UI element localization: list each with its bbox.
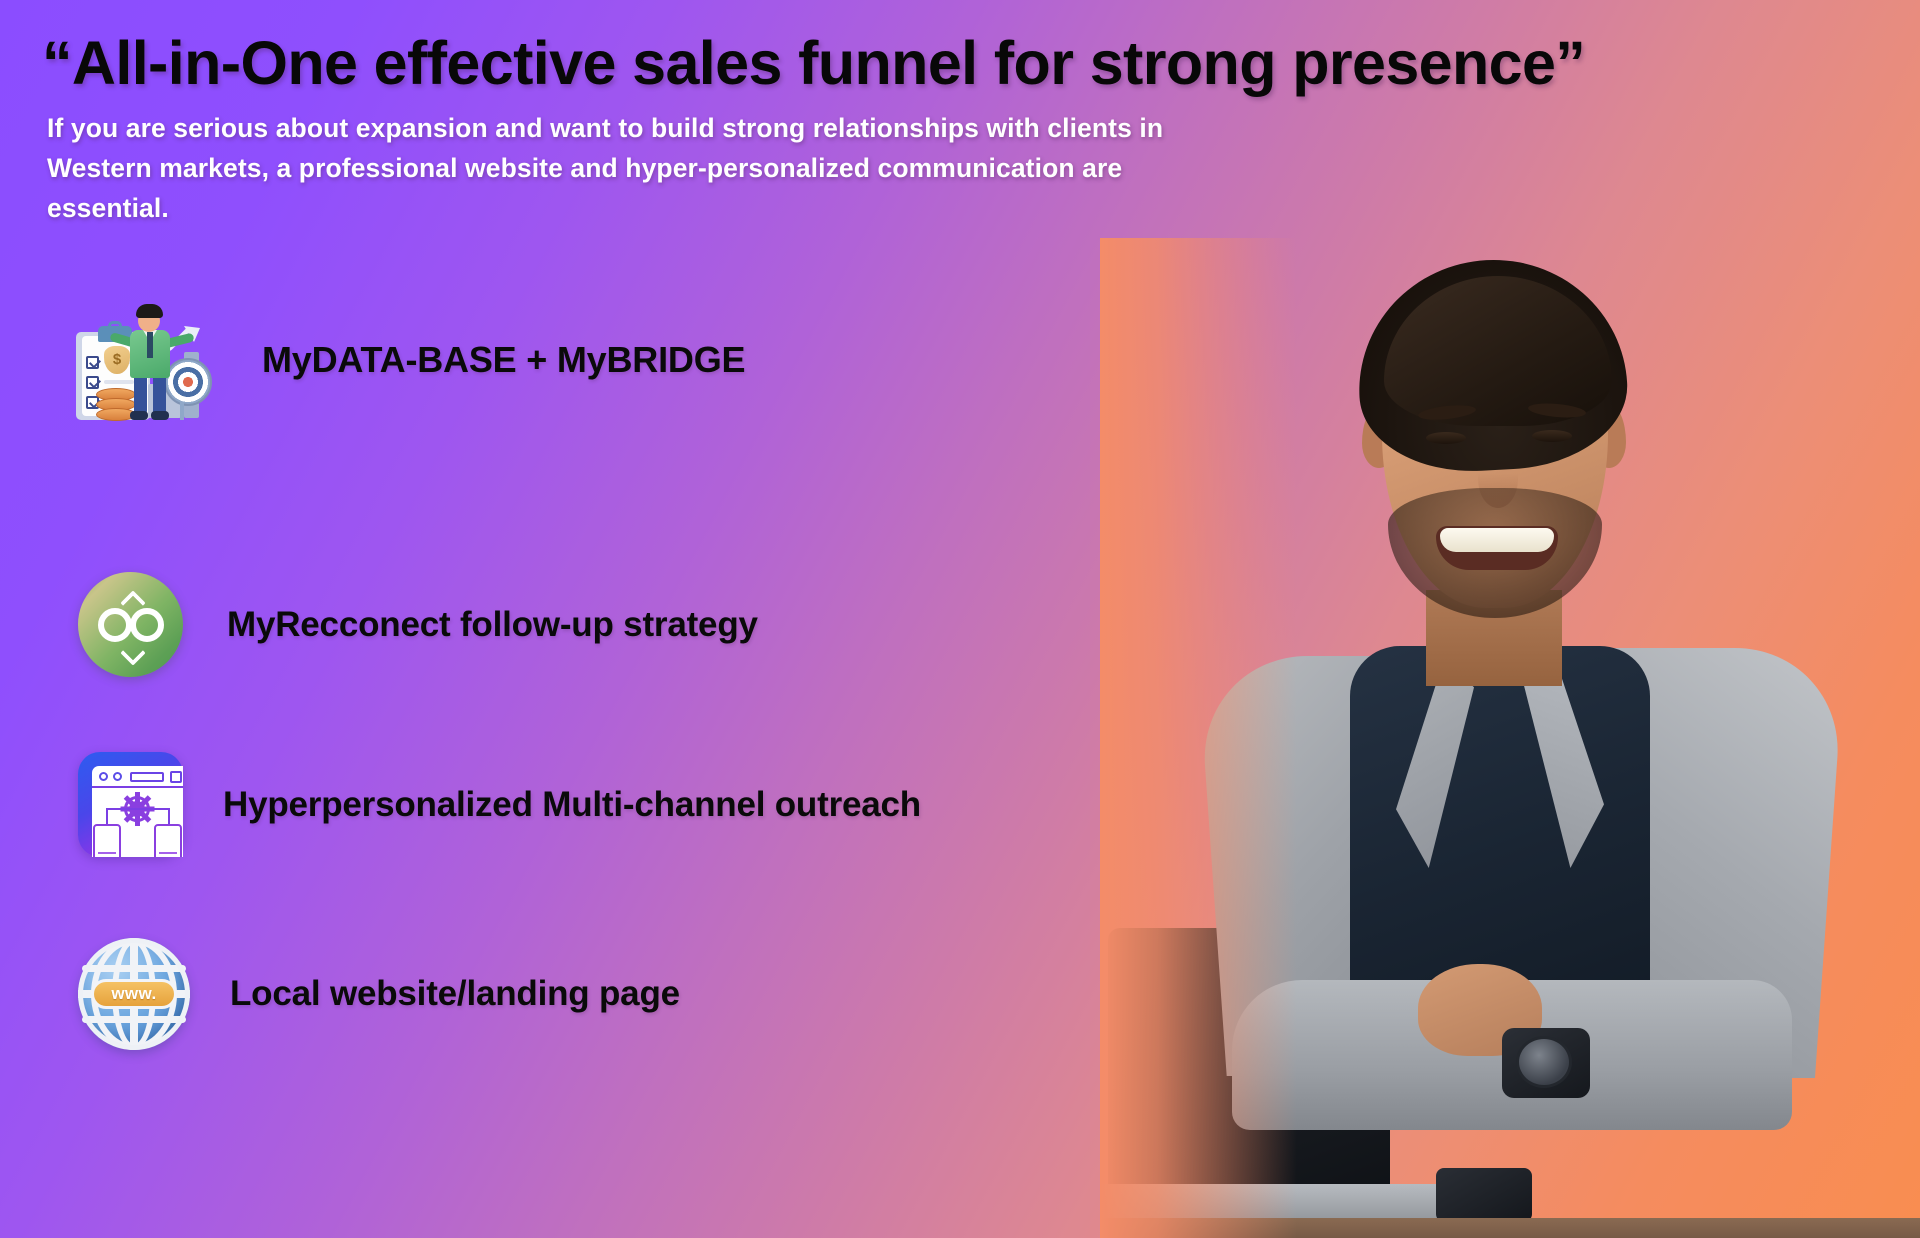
face: [1382, 318, 1608, 608]
feature-row-mydatabase: MyDATA-BASE + MyBRIDGE: [52, 296, 745, 424]
nose: [1478, 450, 1518, 508]
laptop-keyboard: [1100, 1184, 1456, 1238]
photo-person: [1100, 238, 1920, 1238]
page-title: “All-in-One effective sales funnel for s…: [42, 28, 1585, 98]
browser-gear-devices-icon: [78, 752, 183, 857]
shirt: [1350, 646, 1650, 1006]
chevron-down-icon: [121, 644, 141, 655]
watch-face: [1516, 1036, 1572, 1088]
feature-row-multichannel: Hyperpersonalized Multi-channel outreach: [78, 752, 921, 857]
business-growth-illustration-icon: [52, 296, 212, 424]
infinity-icon: [98, 608, 164, 642]
lapel-left: [1396, 658, 1474, 868]
infinity-loop-circle-icon: [78, 572, 183, 677]
jacket-right: [1515, 648, 1845, 1078]
jacket-left: [1197, 656, 1494, 1076]
forearm: [1232, 980, 1792, 1130]
wristwatch: [1502, 1028, 1590, 1098]
laptop-screen: [1108, 928, 1390, 1228]
feature-label: Local website/landing page: [230, 974, 680, 1014]
teeth: [1440, 528, 1554, 552]
feature-label: MyRecconect follow-up strategy: [227, 605, 758, 645]
mouth: [1436, 526, 1558, 570]
lapel-right: [1524, 656, 1604, 868]
address-bar-icon: [130, 772, 164, 782]
www-badge: www.: [91, 979, 177, 1009]
browser-dot-icon: [113, 772, 122, 781]
device-icon: [154, 824, 182, 857]
feature-row-myrecconect: MyRecconect follow-up strategy: [78, 572, 758, 677]
globe-www-icon: www.: [78, 938, 190, 1050]
photo-edge-fade: [1100, 238, 1920, 1238]
desk-surface: [1100, 1218, 1920, 1238]
feature-row-local-website: www. Local website/landing page: [78, 938, 680, 1050]
device-icon: [93, 824, 121, 857]
eyebrow-left: [1417, 403, 1476, 422]
ear-left: [1362, 406, 1396, 468]
eye-right: [1532, 430, 1572, 442]
eye-left: [1426, 432, 1466, 444]
subtitle-paragraph: If you are serious about expansion and w…: [47, 108, 1247, 228]
hair-highlight: [1384, 276, 1612, 426]
eyebrow-right: [1528, 401, 1587, 419]
beard: [1388, 488, 1602, 618]
ear-right: [1592, 404, 1626, 468]
hair: [1353, 253, 1632, 477]
browser-dot-icon: [99, 772, 108, 781]
chevron-up-icon: [121, 594, 141, 605]
neck: [1426, 590, 1562, 686]
window-square-icon: [170, 771, 182, 783]
hand: [1418, 964, 1542, 1056]
phone-on-desk: [1436, 1168, 1532, 1222]
feature-label: Hyperpersonalized Multi-channel outreach: [223, 785, 921, 825]
feature-label: MyDATA-BASE + MyBRIDGE: [262, 339, 745, 381]
presenter-photo: [1100, 238, 1920, 1238]
